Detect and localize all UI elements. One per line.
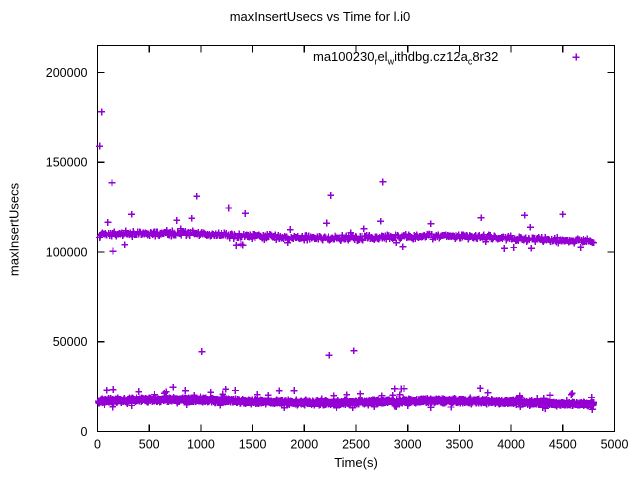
data-point-marker — [207, 389, 214, 396]
x-tick-label: 5000 — [601, 438, 629, 452]
data-point-marker — [323, 220, 330, 227]
legend-marker-plus-icon — [573, 54, 580, 61]
data-point-marker — [242, 210, 249, 217]
data-point-marker — [568, 391, 575, 398]
plot-canvas: 050000100000150000200000 050010001500200… — [0, 0, 640, 480]
y-tick-label: 100000 — [46, 245, 88, 259]
data-points — [95, 109, 597, 413]
data-point-marker — [391, 385, 398, 392]
data-point-marker — [103, 387, 110, 394]
data-point-marker — [193, 193, 200, 200]
data-point-marker — [110, 386, 117, 393]
data-point-marker — [326, 352, 333, 359]
x-tick-label: 4000 — [497, 438, 525, 452]
data-point-marker — [170, 384, 177, 391]
x-tick-label: 2500 — [342, 438, 370, 452]
data-point-marker — [182, 387, 189, 394]
x-tick-label: 0 — [94, 438, 101, 452]
data-point-marker — [528, 245, 535, 252]
data-point-marker — [478, 214, 485, 221]
data-point-marker — [188, 215, 195, 222]
data-point-marker — [351, 347, 358, 354]
data-point-marker — [357, 390, 364, 397]
data-point-marker — [377, 218, 384, 225]
x-tick-label: 4500 — [549, 438, 577, 452]
y-tick-label: 200000 — [46, 66, 88, 80]
x-tick-label: 500 — [139, 438, 160, 452]
data-point-marker — [484, 389, 491, 396]
data-point-marker — [121, 241, 128, 248]
legend-label: ma100230relwithdbg.cz12ac8r32 — [313, 49, 498, 67]
gnuplot-scatter-chart: maxInsertUsecs vs Time for l.i0 maxInser… — [0, 0, 640, 480]
data-point-marker — [163, 389, 170, 396]
y-tick-label: 50000 — [53, 335, 88, 349]
data-point-marker — [135, 388, 142, 395]
y-tick-labels: 050000100000150000200000 — [46, 66, 88, 439]
data-point-marker — [360, 225, 367, 232]
data-point-marker — [510, 244, 517, 251]
data-point-marker — [569, 390, 576, 397]
data-point-marker — [199, 348, 206, 355]
data-point-marker — [379, 179, 386, 186]
data-point-marker — [291, 387, 298, 394]
x-tick-labels: 0500100015002000250030003500400045005000 — [94, 438, 628, 452]
x-tick-label: 1000 — [187, 438, 215, 452]
data-point-marker — [225, 205, 232, 212]
data-point-marker — [287, 226, 294, 233]
data-point-marker — [173, 217, 180, 224]
legend: ma100230relwithdbg.cz12ac8r32 — [313, 49, 579, 67]
data-point-marker — [276, 387, 283, 394]
x-tick-label: 3000 — [394, 438, 422, 452]
x-tick-label: 3500 — [445, 438, 473, 452]
data-point-marker — [98, 109, 105, 116]
data-point-marker — [128, 211, 135, 218]
data-point-marker — [105, 219, 112, 226]
x-tick-label: 1500 — [239, 438, 267, 452]
data-point-marker — [501, 245, 508, 252]
data-point-marker — [521, 212, 528, 219]
data-point-marker — [233, 242, 240, 249]
data-point-marker — [547, 392, 554, 399]
data-point-marker — [232, 387, 239, 394]
data-point-marker — [427, 220, 434, 227]
data-point-marker — [327, 192, 334, 199]
x-tick-label: 2000 — [290, 438, 318, 452]
data-point-marker — [559, 211, 566, 218]
y-tick-label: 0 — [81, 425, 88, 439]
y-tick-label: 150000 — [46, 156, 88, 170]
data-point-marker — [477, 385, 484, 392]
data-point-marker — [109, 179, 116, 186]
data-point-marker — [110, 248, 117, 255]
data-point-marker — [400, 243, 407, 250]
data-point-marker — [527, 224, 534, 231]
